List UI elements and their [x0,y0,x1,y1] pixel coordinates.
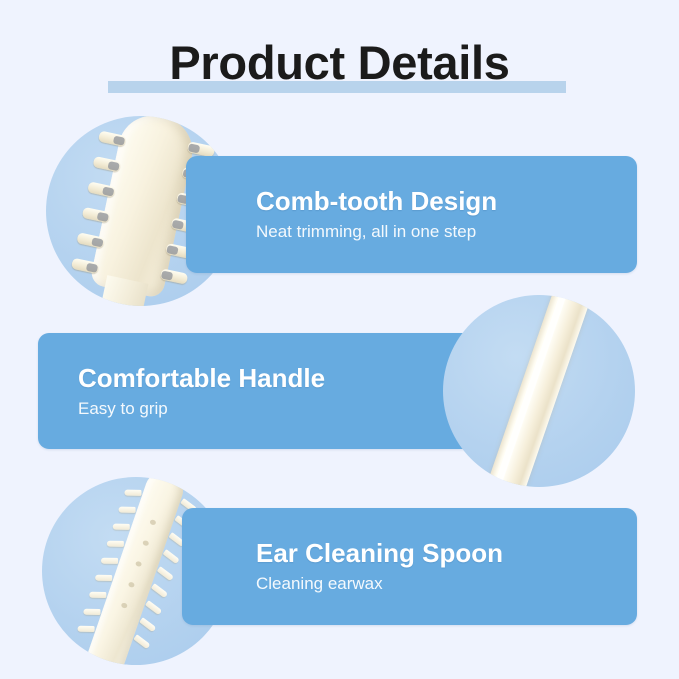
spoon-barb [145,600,162,615]
feature-title: Comb-tooth Design [256,185,497,217]
spoon-barb [157,566,174,581]
page-title: Product Details [0,34,679,92]
feature-card-text-block: Comb-tooth Design Neat trimming, all in … [256,156,497,273]
ear-spoon-illustration [77,477,195,665]
comb-body-shape [89,116,198,299]
feature-subtitle: Easy to grip [78,397,325,421]
spoon-barb [113,524,130,530]
spoon-barb [139,617,156,632]
spoon-barb [95,575,112,581]
spoon-barb [133,634,150,649]
spoon-barb [83,609,100,615]
feature-title: Comfortable Handle [78,362,325,394]
product-details-infographic: Product Details Comb-tooth Design Neat t… [0,0,679,679]
spoon-barb [78,626,95,632]
feature-card-ear-cleaning-spoon[interactable]: Ear Cleaning Spoon Cleaning earwax [182,508,637,625]
rod-highlight [474,295,588,487]
spoon-barb [124,490,141,496]
spoon-barb [151,583,168,598]
feature-subtitle: Cleaning earwax [256,572,503,596]
spoon-barb [89,592,106,598]
handle-rod-illustration [467,295,610,487]
page-header: Product Details [0,34,679,96]
feature-card-text-block: Ear Cleaning Spoon Cleaning earwax [256,508,503,625]
comb-tooth-product-illustration [85,116,198,306]
spoon-barb [119,507,136,513]
feature-title: Ear Cleaning Spoon [256,537,503,569]
feature-card-comb-tooth[interactable]: Comb-tooth Design Neat trimming, all in … [186,156,637,273]
feature-subtitle: Neat trimming, all in one step [256,220,497,244]
spoon-barb [101,558,118,564]
spoon-barb [107,541,124,547]
spoon-barb [163,549,180,564]
feature-card-text-block: Comfortable Handle Easy to grip [78,333,325,449]
feature-card-comfortable-handle[interactable]: Comfortable Handle Easy to grip [38,333,490,449]
handle-rod-photo [443,295,635,487]
